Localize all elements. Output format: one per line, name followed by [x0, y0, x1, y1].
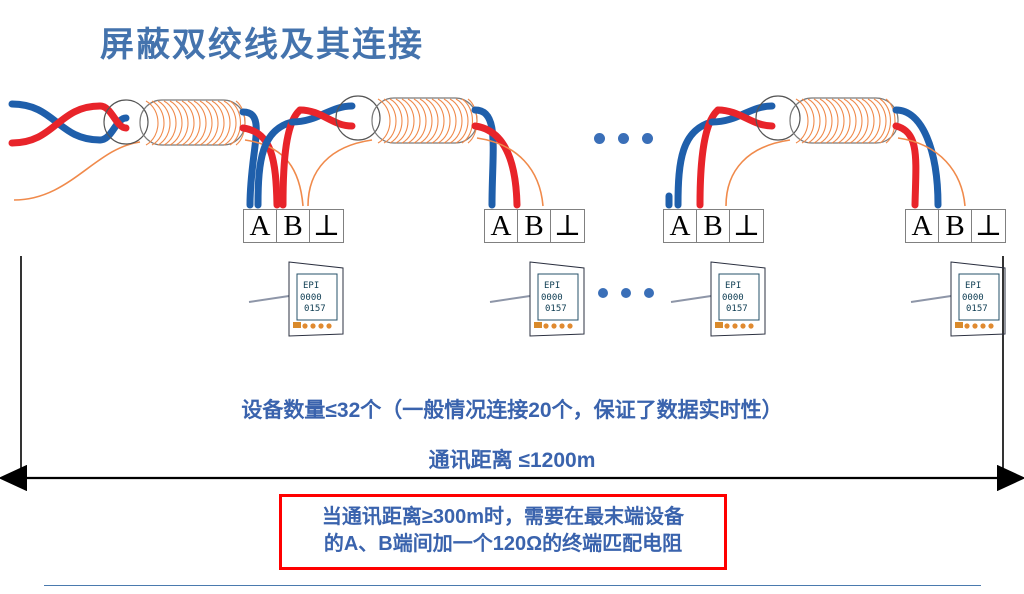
svg-text:0000: 0000 — [962, 293, 984, 303]
svg-text:0157: 0157 — [966, 304, 988, 314]
terminal-cell-ground: ⊥ — [551, 210, 584, 242]
meter-4-graphic: EPI 0000 0157 — [911, 262, 1005, 342]
caption-device-count: 设备数量≤32个（一般情况连接20个，保证了数据实时性） — [0, 394, 1024, 424]
meter-1-graphic: EPI 0000 0157 — [249, 262, 343, 342]
bottom-divider — [44, 585, 981, 586]
ellipsis-dot — [621, 288, 631, 298]
svg-text:0157: 0157 — [545, 304, 567, 314]
terminal-cell-ground: ⊥ — [972, 210, 1005, 242]
svg-text:EPI: EPI — [725, 281, 741, 291]
terminal-block-2[interactable]: A B ⊥ — [484, 209, 585, 243]
terminal-block-3[interactable]: A B ⊥ — [663, 209, 764, 243]
svg-text:EPI: EPI — [303, 281, 319, 291]
terminal-block-1[interactable]: A B ⊥ — [243, 209, 344, 243]
terminal-cell-a: A — [906, 210, 939, 242]
meter-2-graphic: EPI 0000 0157 — [490, 262, 584, 342]
terminal-cell-a: A — [244, 210, 277, 242]
svg-text:0157: 0157 — [726, 304, 748, 314]
ellipsis-dot — [644, 288, 654, 298]
svg-text:0000: 0000 — [541, 293, 563, 303]
terminal-cell-b: B — [518, 210, 551, 242]
svg-text:0157: 0157 — [304, 304, 326, 314]
terminal-block-4[interactable]: A B ⊥ — [905, 209, 1006, 243]
terminal-cell-ground: ⊥ — [730, 210, 763, 242]
terminal-cell-b: B — [697, 210, 730, 242]
ellipsis-dot — [598, 288, 608, 298]
terminal-cell-a: A — [485, 210, 518, 242]
note-line-2: 的A、B端间加一个120Ω的终端匹配电阻 — [282, 531, 724, 558]
svg-text:EPI: EPI — [544, 281, 560, 291]
terminal-cell-b: B — [939, 210, 972, 242]
terminal-cell-ground: ⊥ — [310, 210, 343, 242]
caption-distance: 通讯距离 ≤1200m — [0, 444, 1024, 474]
ellipsis-dot — [618, 133, 629, 144]
terminal-cell-a: A — [664, 210, 697, 242]
termination-resistor-note: 当通讯距离≥300m时，需要在最末端设备 的A、B端间加一个120Ω的终端匹配电… — [279, 494, 727, 570]
note-line-1: 当通讯距离≥300m时，需要在最末端设备 — [282, 504, 724, 531]
slide-canvas: 屏蔽双绞线及其连接 0%#4a5068 55%#343a52 100%#272c… — [0, 0, 1024, 594]
svg-text:EPI: EPI — [965, 281, 981, 291]
ellipsis-cable — [594, 133, 653, 144]
ellipsis-dot — [642, 133, 653, 144]
ellipsis-dot — [594, 133, 605, 144]
terminal-cell-b: B — [277, 210, 310, 242]
meter-3-graphic: EPI 0000 0157 — [671, 262, 765, 342]
svg-text:0000: 0000 — [722, 293, 744, 303]
svg-text:0000: 0000 — [300, 293, 322, 303]
ellipsis-devices — [598, 288, 654, 298]
cable-segment-3 — [678, 96, 965, 206]
